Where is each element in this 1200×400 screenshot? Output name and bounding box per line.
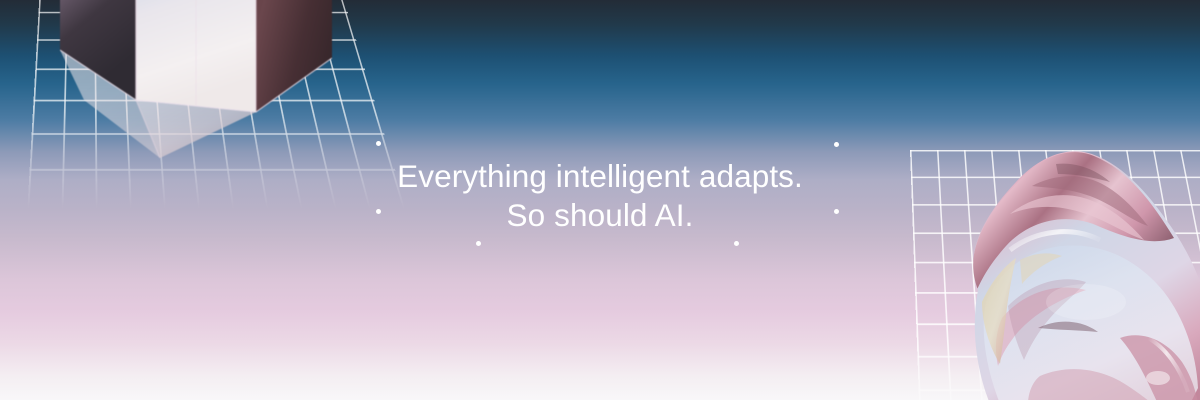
decor-dot (734, 241, 739, 246)
decor-dot (834, 142, 839, 147)
decor-dot (376, 141, 381, 146)
decor-dot (834, 209, 839, 214)
translucent-cube-icon (60, 0, 332, 162)
banner-headline: Everything intelligent adapts. So should… (0, 157, 1200, 235)
hero-banner: Everything intelligent adapts. So should… (0, 0, 1200, 400)
decor-dot (476, 241, 481, 246)
headline-line-2: So should AI. (0, 196, 1200, 235)
headline-line-1: Everything intelligent adapts. (0, 157, 1200, 196)
decor-dot (376, 209, 381, 214)
